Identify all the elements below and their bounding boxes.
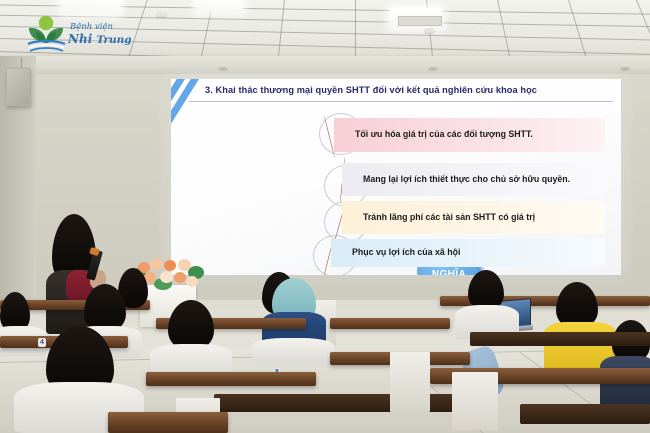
benefit-box-waste: Tránh lãng phí các tài sản SHTT có giá t… xyxy=(342,201,605,234)
attendee-body xyxy=(252,338,334,364)
bench-row xyxy=(330,318,450,329)
seat-number-badge: 4 xyxy=(38,338,46,347)
benefit-text: Tránh lãng phí các tài sản SHTT có giá t… xyxy=(363,212,535,224)
slide-title: 3. Khai thác thương mại quyền SHTT đối v… xyxy=(205,85,610,95)
benefit-box-optimize: Tối ưu hóa giá trị của các đối tượng SHT… xyxy=(334,118,605,152)
bench-row xyxy=(108,412,228,433)
ceiling-soffit xyxy=(0,56,650,76)
bench-end-panel xyxy=(452,372,498,430)
bench-row xyxy=(520,404,650,424)
benefit-text: Mang lại lợi ích thiết thực cho chủ sở h… xyxy=(363,174,570,186)
bench-row xyxy=(470,332,650,346)
benefit-text: Phục vụ lợi ích của xã hội xyxy=(352,247,460,259)
ceiling-light xyxy=(196,0,242,12)
leaf-emblem xyxy=(28,16,65,51)
hub-label-main: NGHĨA xyxy=(432,269,466,275)
benefit-text: Tối ưu hóa giá trị của các đối tượng SHT… xyxy=(355,129,533,141)
ceiling-vent xyxy=(398,16,442,26)
smoke-detector-icon xyxy=(156,12,167,17)
wall-speaker xyxy=(6,68,30,106)
smoke-detector-icon xyxy=(424,28,435,33)
bench-end-panel xyxy=(390,352,430,412)
conference-room-scene: Bệnh viện Nhi Trung ương 3. Khai thác th… xyxy=(0,0,650,433)
hospital-logo: Bệnh viện Nhi Trung ương xyxy=(22,12,134,54)
logo-line2-text: Nhi Trung ương xyxy=(67,32,134,46)
title-divider xyxy=(189,101,613,102)
benefit-box-owner: Mang lại lợi ích thiết thực cho chủ sở h… xyxy=(342,163,605,196)
logo-line1-text: Bệnh viện xyxy=(69,21,113,32)
benefit-box-society: Phục vụ lợi ích của xã hội xyxy=(331,239,605,267)
projected-slide: 3. Khai thác thương mại quyền SHTT đối v… xyxy=(171,79,621,275)
bench-row xyxy=(146,372,316,386)
